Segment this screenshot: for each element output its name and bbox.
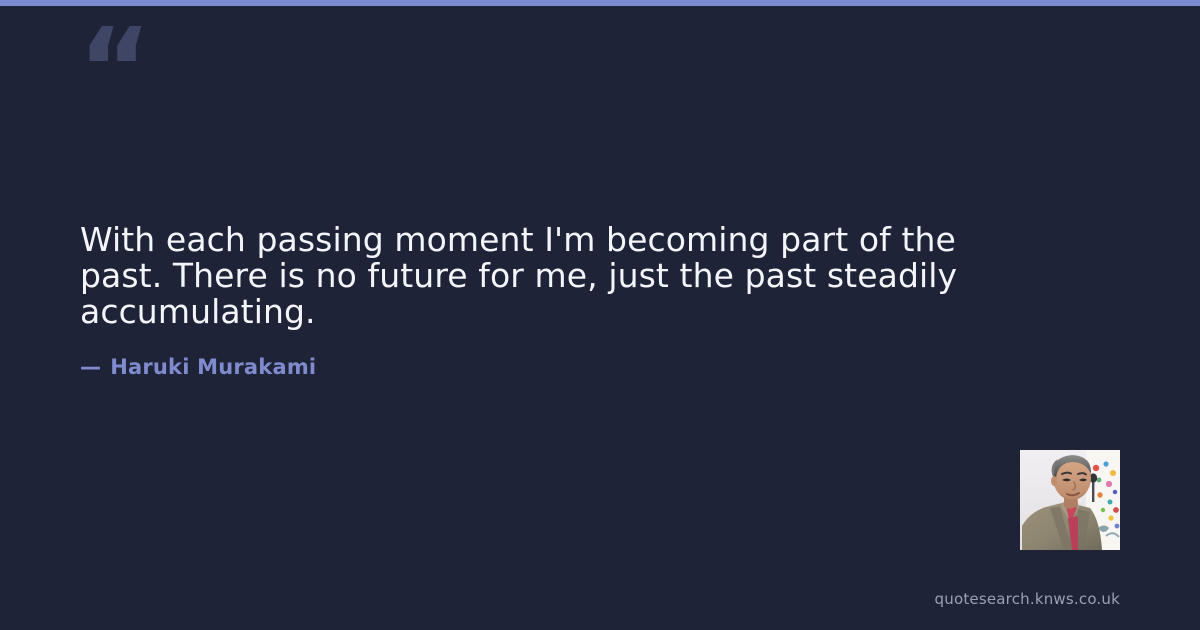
quote-block: With each passing moment I'm becoming pa… — [80, 222, 960, 330]
em-dash-icon: — — [80, 355, 101, 379]
author-portrait — [1020, 450, 1120, 550]
quote-mark-icon: “ — [78, 14, 150, 126]
quote-card: “ With each passing moment I'm becoming … — [0, 0, 1200, 630]
watermark-url: quotesearch.knws.co.uk — [935, 590, 1120, 608]
quote-text: With each passing moment I'm becoming pa… — [80, 222, 960, 330]
author-attribution: — Haruki Murakami — [80, 355, 316, 379]
author-name: Haruki Murakami — [110, 355, 316, 379]
author-photo-icon — [1020, 450, 1120, 550]
top-accent-bar — [0, 0, 1200, 6]
